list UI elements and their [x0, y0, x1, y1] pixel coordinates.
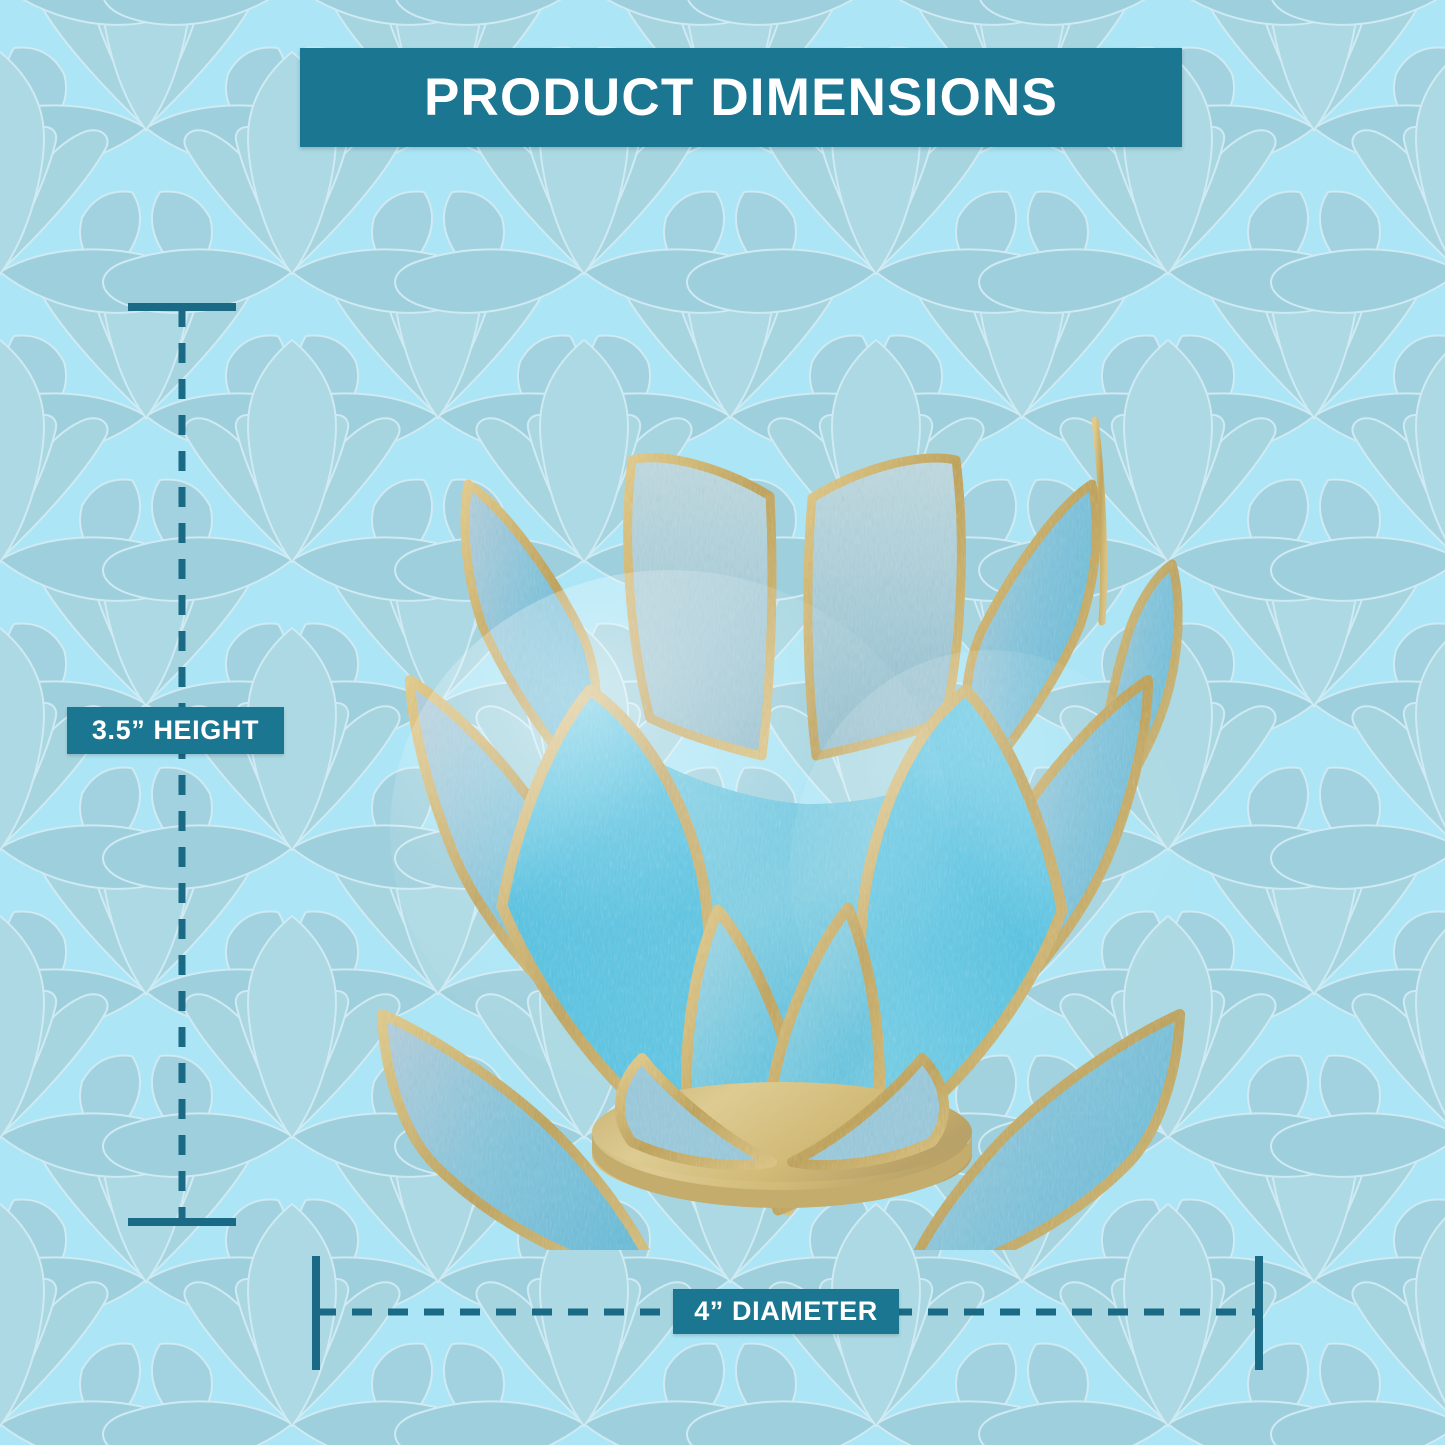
- diameter-dimension-label: 4” DIAMETER: [694, 1298, 878, 1325]
- height-dimension-badge: 3.5” HEIGHT: [67, 707, 284, 754]
- infographic-canvas: PRODUCT DIMENSIONS 3.5” HEIGHT 4” DIAMET…: [0, 0, 1445, 1445]
- product-photo-lotus-candle-holder: [250, 270, 1310, 1250]
- page-title: PRODUCT DIMENSIONS: [424, 71, 1058, 124]
- diameter-dimension-badge: 4” DIAMETER: [673, 1289, 899, 1334]
- height-dimension-label: 3.5” HEIGHT: [92, 717, 259, 744]
- page-title-banner: PRODUCT DIMENSIONS: [300, 48, 1182, 147]
